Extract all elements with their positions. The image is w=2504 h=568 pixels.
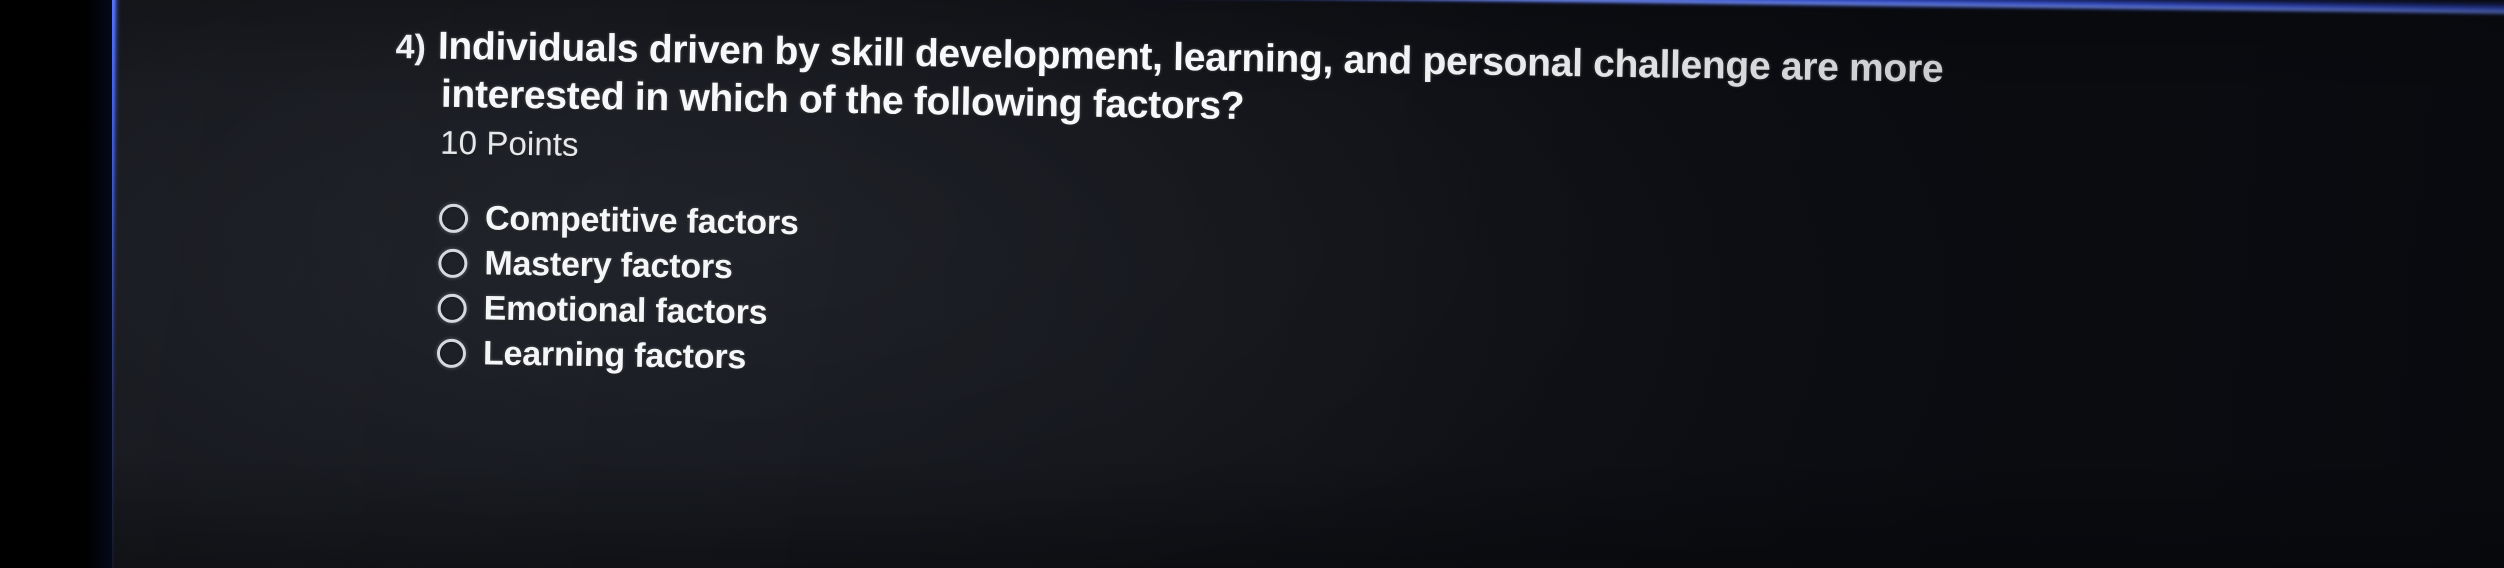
quiz-question-content: 4) Individuals driven by skill developme…	[391, 26, 2296, 404]
option-label[interactable]: Mastery factors	[484, 244, 733, 287]
option-label[interactable]: Learning factors	[483, 334, 747, 377]
option-label[interactable]: Emotional factors	[483, 289, 767, 332]
radio-button-icon[interactable]	[437, 294, 466, 323]
option-label[interactable]: Competitive factors	[485, 199, 799, 243]
question-number: 4)	[395, 28, 426, 67]
radio-button-icon[interactable]	[437, 339, 466, 368]
offscreen-black-area	[0, 0, 112, 568]
answer-options-list: Competitive factors Mastery factors Emot…	[437, 196, 2294, 404]
radio-button-icon[interactable]	[439, 204, 468, 233]
question-block: 4) Individuals driven by skill developme…	[394, 26, 2296, 190]
photographed-screen: 4) Individuals driven by skill developme…	[0, 0, 2504, 568]
radio-button-icon[interactable]	[438, 249, 467, 278]
